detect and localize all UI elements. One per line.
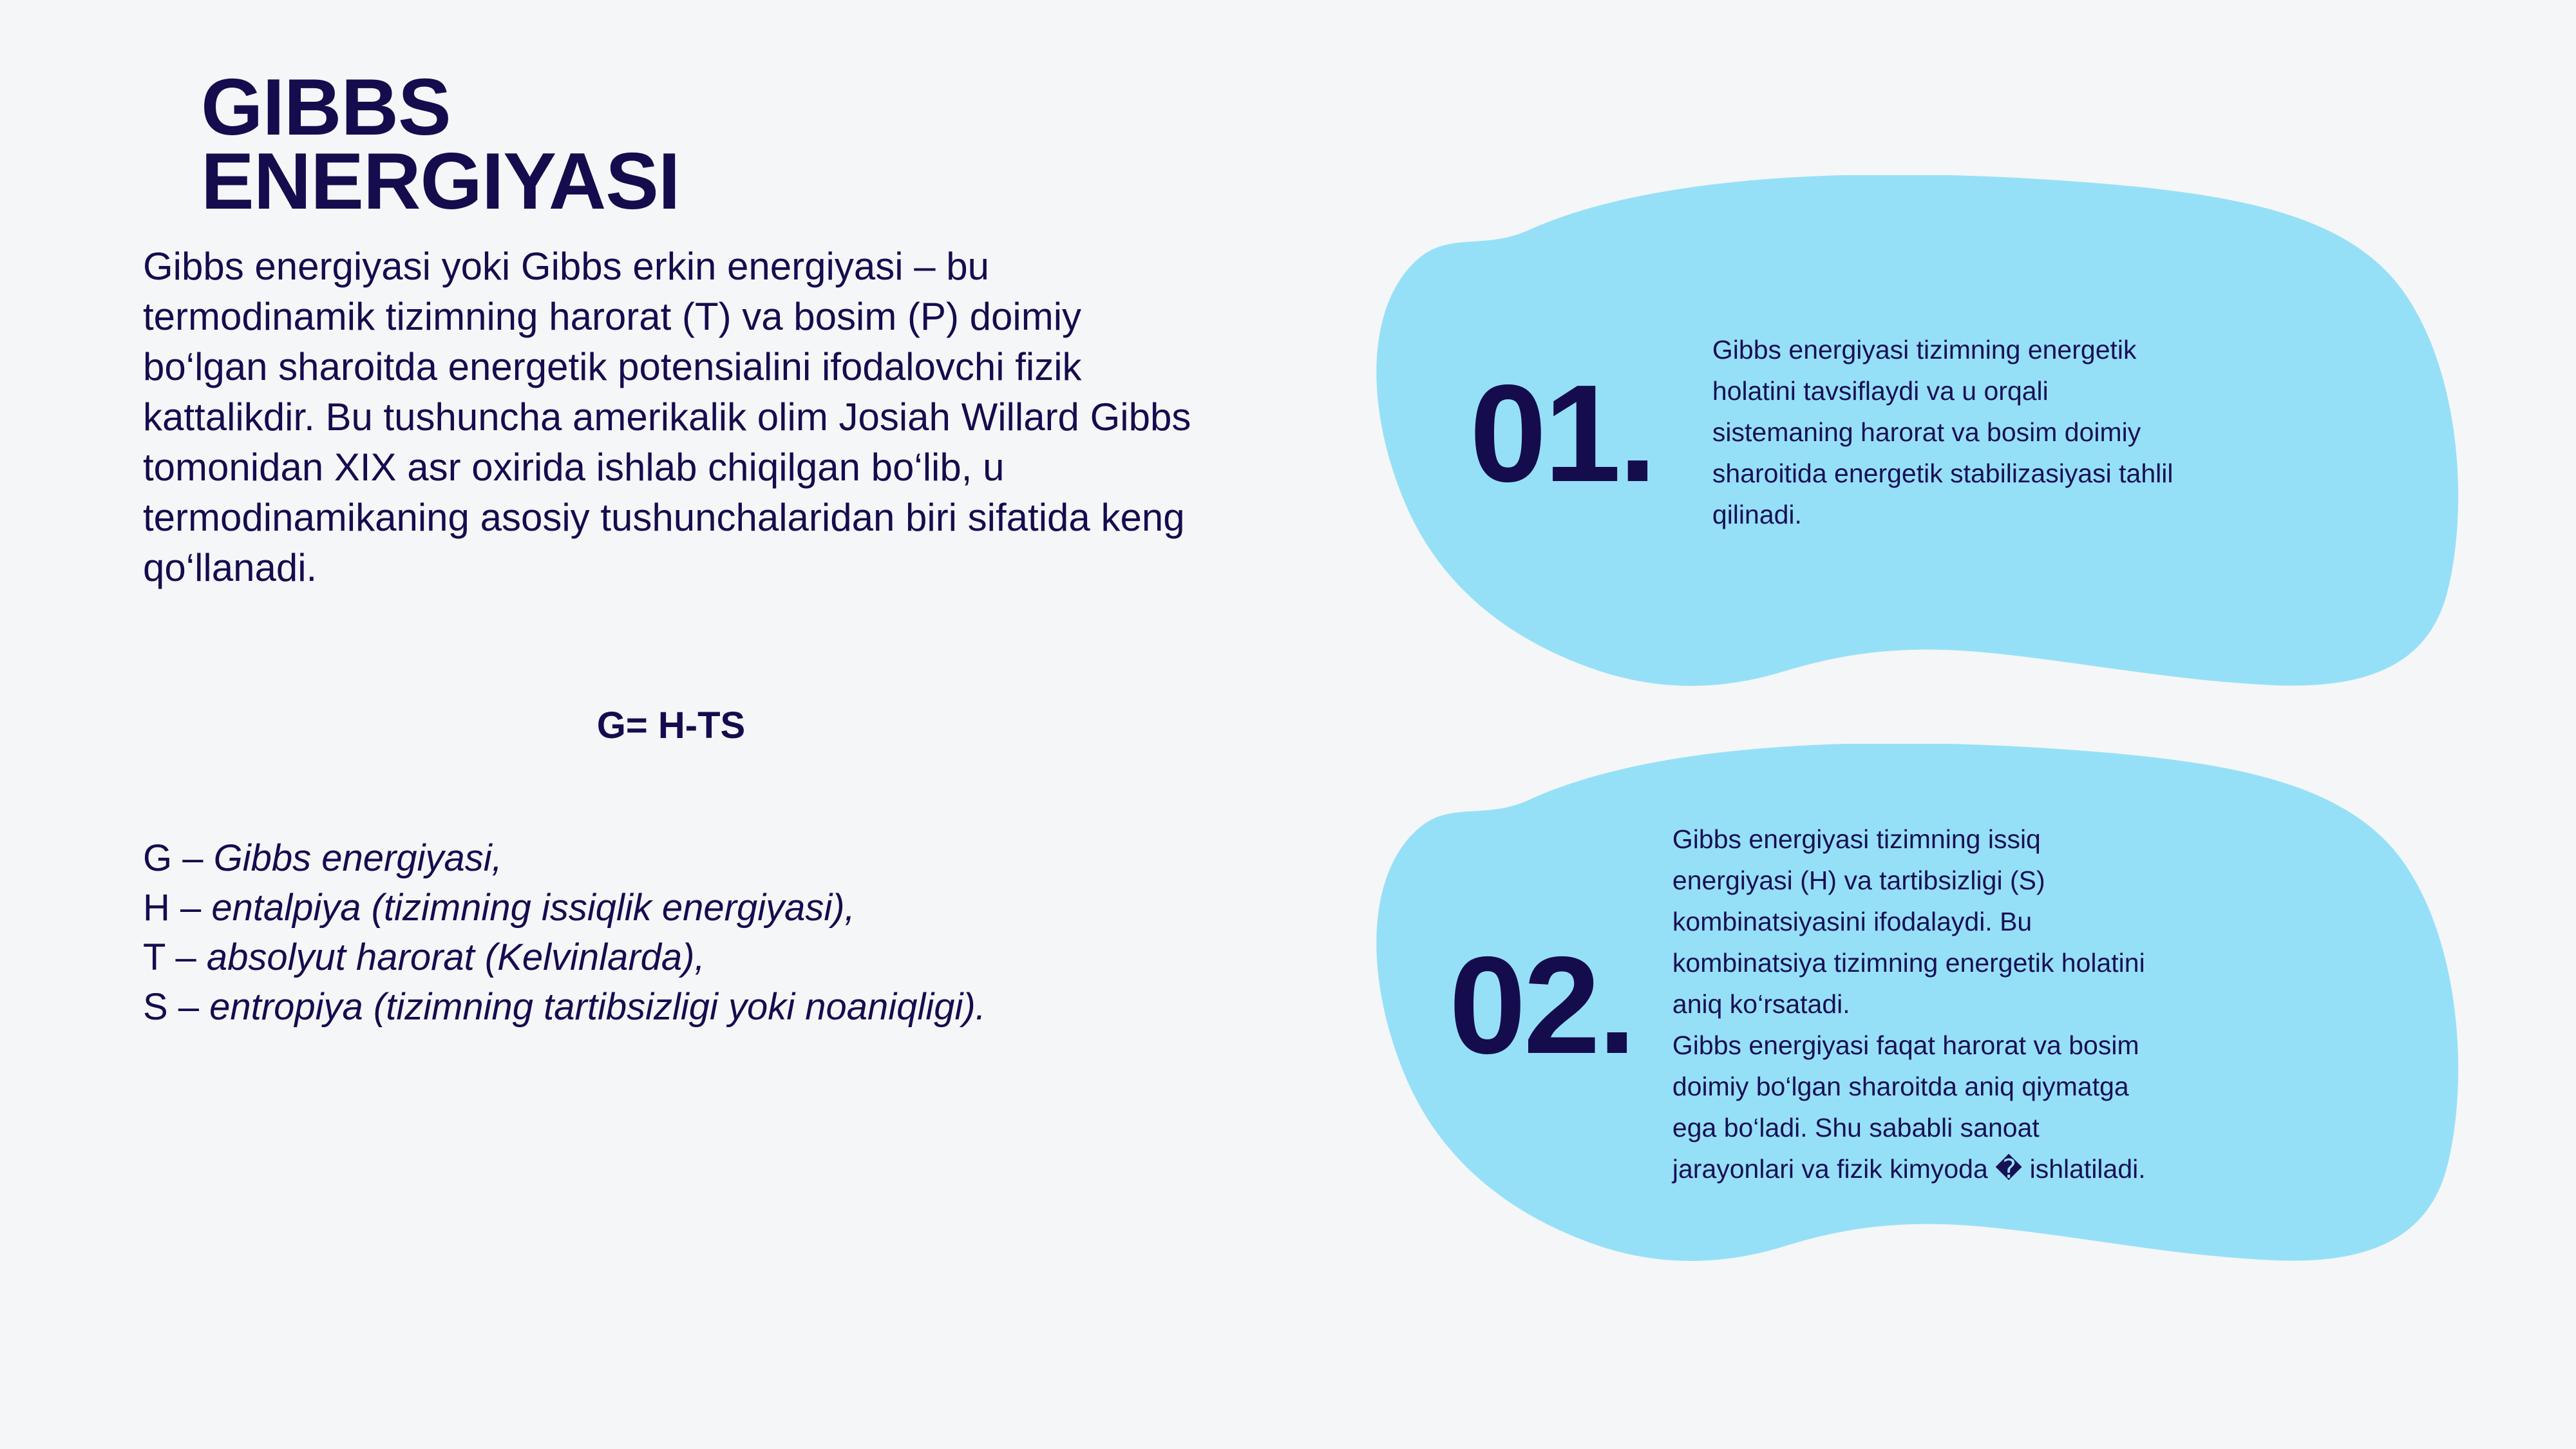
definition-item-h: H – entalpiya (tizimning issiqlik energi… <box>143 883 1251 933</box>
info-card-01-content: 01. Gibbs energiyasi tizimning energetik… <box>1359 175 2483 690</box>
page-title: GIBBS ENERGIYASI <box>201 71 1251 220</box>
definition-item-s: S – entropiya (tizimning tartibsizligi y… <box>143 982 1077 1032</box>
card-number-01: 01. <box>1470 364 1654 502</box>
slide-canvas: GIBBS ENERGIYASI Gibbs energiyasi yoki G… <box>0 0 2576 1449</box>
intro-paragraph: Gibbs energiyasi yoki Gibbs erkin energi… <box>143 241 1206 593</box>
definition-key-h: H – <box>143 887 211 929</box>
definitions-list: G – Gibbs energiyasi, H – entalpiya (tiz… <box>143 833 1251 1032</box>
card-body-01: Gibbs energiyasi tizimning energetik hol… <box>1712 330 2189 536</box>
card-01-paragraph-1: Gibbs energiyasi tizimning energetik hol… <box>1712 330 2189 536</box>
definition-value-s: entropiya (tizimning tartibsizligi yoki … <box>209 986 986 1028</box>
definition-value-t: absolyut harorat (Kelvinlarda), <box>207 936 705 978</box>
definition-item-t: T – absolyut harorat (Kelvinlarda), <box>143 933 1251 982</box>
definition-value-g: Gibbs energiyasi, <box>214 837 502 879</box>
definition-item-g: G – Gibbs energiyasi, <box>143 833 1251 883</box>
info-card-02-content: 02. Gibbs energiyasi tizimning issiq ene… <box>1359 744 2483 1265</box>
definition-key-g: G – <box>143 837 214 879</box>
card-02-paragraph-1: Gibbs energiyasi tizimning issiq energiy… <box>1672 819 2162 1025</box>
definition-key-s: S – <box>143 986 209 1028</box>
card-number-02: 02. <box>1449 936 1634 1074</box>
info-card-01[interactable]: 01. Gibbs energiyasi tizimning energetik… <box>1359 175 2483 690</box>
left-content-column: GIBBS ENERGIYASI Gibbs energiyasi yoki G… <box>143 71 1251 1032</box>
card-body-02: Gibbs energiyasi tizimning issiq energiy… <box>1672 819 2162 1190</box>
card-02-paragraph-2: Gibbs energiyasi faqat harorat va bosim … <box>1672 1025 2162 1190</box>
definition-key-t: T – <box>143 936 207 978</box>
info-card-02[interactable]: 02. Gibbs energiyasi tizimning issiq ene… <box>1359 744 2483 1265</box>
definition-value-h: entalpiya (tizimning issiqlik energiyasi… <box>211 887 855 929</box>
cards-column: 01. Gibbs energiyasi tizimning energetik… <box>1340 0 2499 1449</box>
gibbs-formula: G= H-TS <box>143 704 1199 747</box>
